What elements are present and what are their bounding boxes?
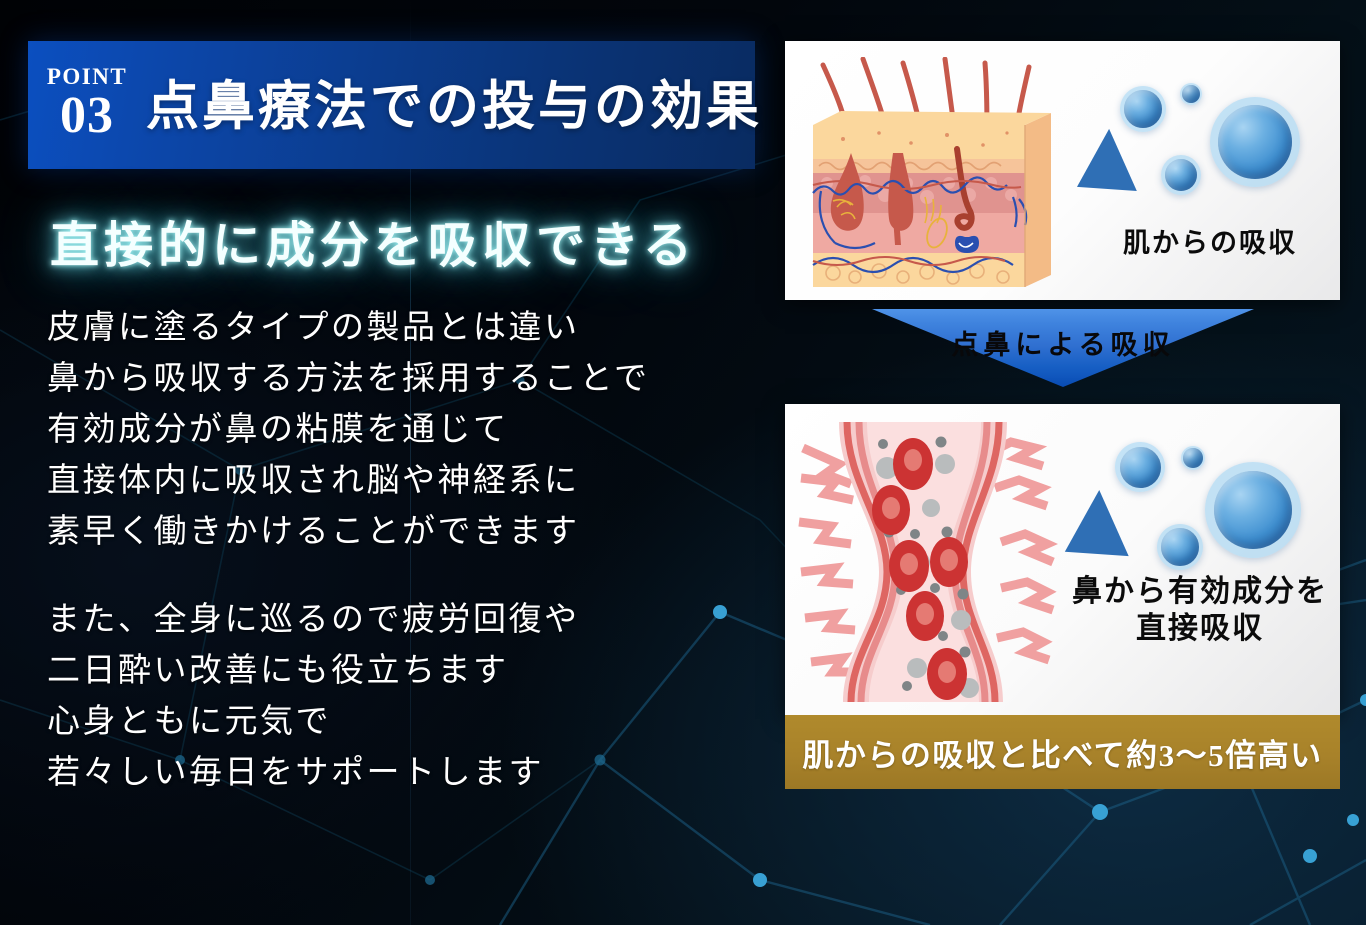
page-title: 点鼻療法での投与の効果 <box>146 64 762 146</box>
triangle-marker <box>1065 488 1133 556</box>
body-line: 皮膚に塗るタイプの製品とは違い <box>47 303 650 354</box>
subheading: 直接的に成分を吸収できる <box>50 206 697 277</box>
body-line: 素早く働きかけることができます <box>47 507 650 558</box>
nasal-absorption-panel: 鼻から有効成分を 直接吸収 <box>785 404 1340 715</box>
arrow-label: 点鼻による吸収 <box>872 323 1254 362</box>
point-label: POINT <box>28 65 146 88</box>
point-number: 03 <box>28 90 146 142</box>
nasal-caption-line-2: 直接吸収 <box>1065 611 1335 648</box>
body-paragraph-2: また、全身に巡るので疲労回復や 二日酔い改善にも役立ちます 心身ともに元気で 若… <box>47 595 580 799</box>
molecule-sphere-tiny <box>1180 83 1202 105</box>
molecule-sphere-large <box>1210 97 1300 187</box>
molecule-sphere-medium <box>1157 524 1203 570</box>
molecule-sphere-small <box>1115 442 1165 492</box>
nasal-caption-line-1: 鼻から有効成分を <box>1065 574 1335 611</box>
point-number-block: POINT 03 <box>28 65 146 146</box>
comparison-gold-bar: 肌からの吸収と比べて約3〜5倍高い <box>785 715 1340 789</box>
molecule-sphere-tiny <box>1181 446 1205 470</box>
molecule-sphere-large <box>1205 462 1301 558</box>
body-line: 有効成分が鼻の粘膜を通じて <box>47 405 650 456</box>
skin-cross-section-illustration <box>807 57 1059 295</box>
blood-vessel-illustration <box>795 422 1071 702</box>
molecule-sphere-medium <box>1161 155 1201 195</box>
triangle-marker <box>1077 127 1141 191</box>
body-paragraph-1: 皮膚に塗るタイプの製品とは違い 鼻から吸収する方法を採用することで 有効成分が鼻… <box>47 303 650 558</box>
comparison-text: 肌からの吸収と比べて約3〜5倍高い <box>802 730 1322 775</box>
body-line: また、全身に巡るので疲労回復や <box>47 595 580 646</box>
point-header-banner: POINT 03 点鼻療法での投与の効果 <box>28 41 755 169</box>
body-line: 若々しい毎日をサポートします <box>47 748 580 799</box>
body-line: 心身ともに元気で <box>47 697 580 748</box>
molecule-sphere-small <box>1120 86 1166 132</box>
body-line: 二日酔い改善にも役立ちます <box>47 646 580 697</box>
skin-panel-caption: 肌からの吸収 <box>1085 227 1335 260</box>
body-line: 直接体内に吸収され脳や神経系に <box>47 456 650 507</box>
skin-absorption-panel: 肌からの吸収 <box>785 41 1340 300</box>
absorption-arrow: 点鼻による吸収 <box>872 309 1254 387</box>
body-line: 鼻から吸収する方法を採用することで <box>47 354 650 405</box>
nasal-panel-caption: 鼻から有効成分を 直接吸収 <box>1065 574 1335 647</box>
slide-root: POINT 03 点鼻療法での投与の効果 直接的に成分を吸収できる 皮膚に塗るタ… <box>0 0 1366 925</box>
